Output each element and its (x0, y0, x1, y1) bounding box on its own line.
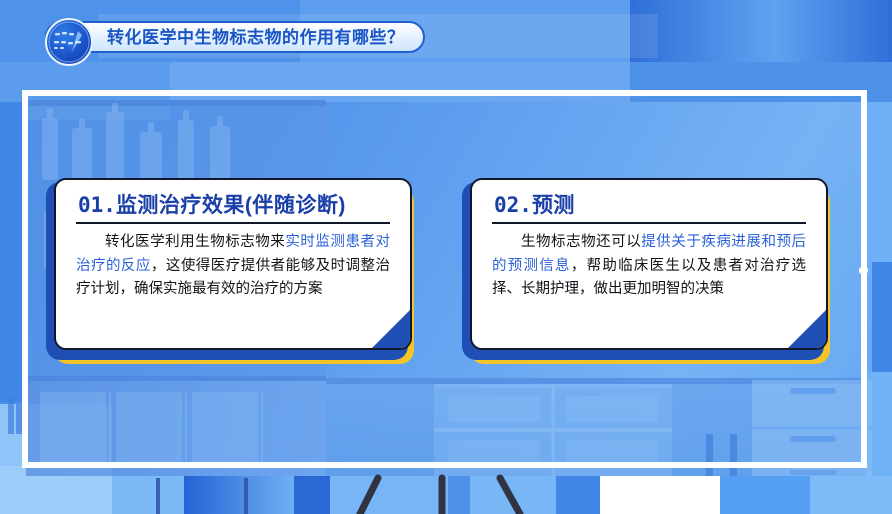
slide-canvas: 转化医学中生物标志物的作用有哪些？ (0, 0, 892, 514)
card-1-body: 转化医学利用生物标志物来实时监测患者对治疗的反应，这使得医疗提供者能够及时调整治… (76, 231, 390, 301)
info-card-2[interactable]: 02.预测 生物标志物还可以提供关于疾病进展和预后的预测信息，帮助临床医生以及患… (462, 178, 830, 364)
card-2-divider (492, 222, 806, 224)
card-1-title-text: 监测治疗效果(伴随诊断) (116, 194, 346, 217)
card-2-title: 02.预测 (494, 194, 826, 217)
header: 转化医学中生物标志物的作用有哪些？ (45, 19, 425, 55)
card-1-face: 01.监测治疗效果(伴随诊断) 转化医学利用生物标志物来实时监测患者对治疗的反应… (54, 178, 412, 350)
frame-dot-icon (859, 266, 868, 275)
card-2-body: 生物标志物还可以提供关于疾病进展和预后的预测信息，帮助临床医生以及患者对治疗选择… (492, 231, 806, 301)
header-pill: 转化医学中生物标志物的作用有哪些？ (45, 21, 425, 53)
card-2-face: 02.预测 生物标志物还可以提供关于疾病进展和预后的预测信息，帮助临床医生以及患… (470, 178, 828, 350)
page-title: 转化医学中生物标志物的作用有哪些？ (107, 29, 405, 46)
card-2-title-text: 预测 (532, 194, 575, 217)
card-1-folded-corner-icon (371, 309, 411, 349)
card-2-folded-corner-icon (787, 309, 827, 349)
card-1-number: 01. (78, 193, 116, 217)
card-2-number: 02. (494, 193, 532, 217)
brand-logo-icon[interactable] (45, 18, 93, 66)
card-1-title: 01.监测治疗效果(伴随诊断) (78, 194, 410, 217)
card-2-body-part-1: 生物标志物还可以 (521, 234, 641, 250)
card-1-body-part-1: 转化医学利用生物标志物来 (105, 234, 285, 250)
info-card-1[interactable]: 01.监测治疗效果(伴随诊断) 转化医学利用生物标志物来实时监测患者对治疗的反应… (46, 178, 414, 364)
card-1-divider (76, 222, 390, 224)
